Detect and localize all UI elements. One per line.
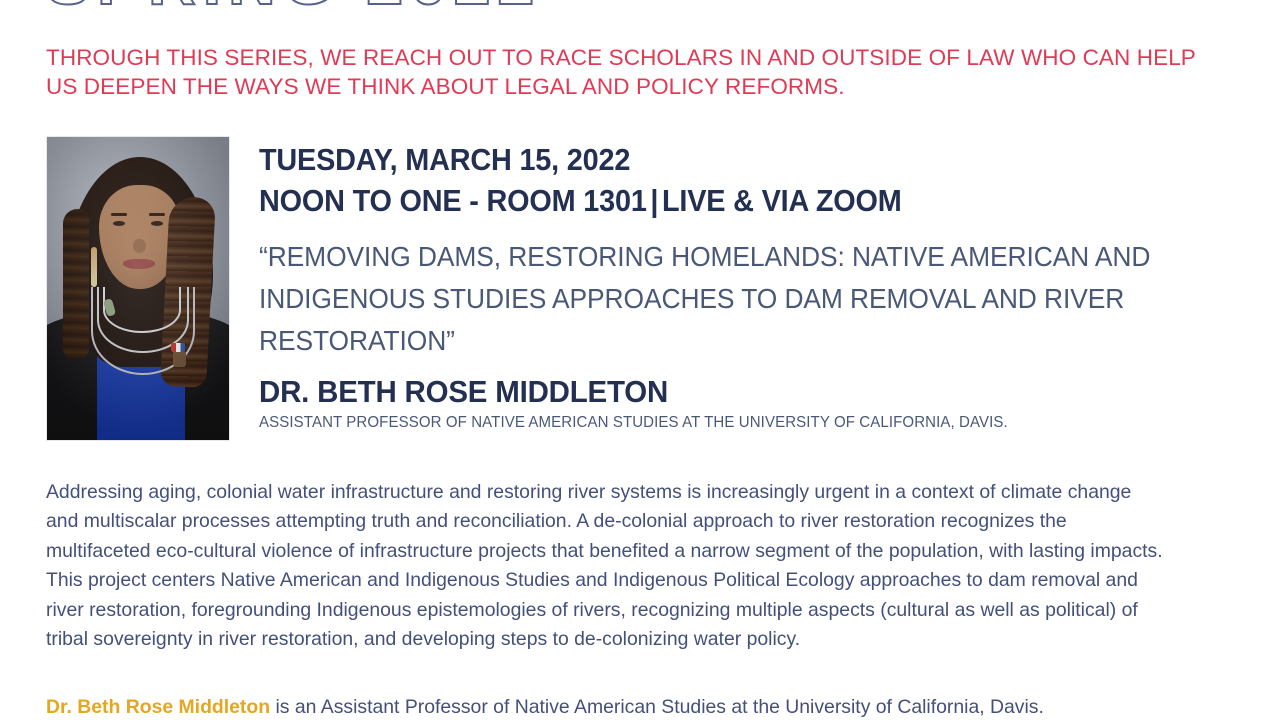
event-flyer: SPRING 2022 THROUGH THIS SERIES, WE REAC… (0, 0, 1280, 720)
season-headline-clipped: SPRING 2022 (46, 0, 541, 24)
event-details-column: TUESDAY, MARCH 15, 2022 NOON TO ONE - RO… (230, 136, 1236, 432)
series-intro-text: THROUGH THIS SERIES, WE REACH OUT TO RAC… (46, 44, 1221, 101)
event-time-location: NOON TO ONE - ROOM 1301 (259, 183, 647, 218)
speaker-photo-column (46, 136, 230, 441)
speaker-affiliation: ASSISTANT PROFESSOR OF NATIVE AMERICAN S… (259, 414, 1207, 432)
speaker-bio-name: Dr. Beth Rose Middleton (46, 696, 270, 718)
event-datetime: TUESDAY, MARCH 15, 2022 NOON TO ONE - RO… (259, 140, 1168, 221)
speaker-bio-line: Dr. Beth Rose Middleton is an Assistant … (46, 693, 1226, 720)
event-format: LIVE & VIA ZOOM (662, 183, 902, 218)
event-time-location-line: NOON TO ONE - ROOM 1301|LIVE & VIA ZOOM (259, 181, 1168, 222)
photo-vignette (47, 137, 229, 440)
talk-abstract: Addressing aging, colonial water infrast… (46, 478, 1168, 655)
event-separator: | (647, 183, 662, 218)
speaker-bio-text: is an Assistant Professor of Native Amer… (270, 696, 1044, 718)
speaker-name: DR. BETH ROSE MIDDLETON (259, 374, 1187, 410)
season-headline: SPRING 2022 (46, 0, 541, 18)
event-main-block: TUESDAY, MARCH 15, 2022 NOON TO ONE - RO… (46, 136, 1236, 441)
speaker-portrait-photo (46, 136, 230, 441)
talk-title: “REMOVING DAMS, RESTORING HOMELANDS: NAT… (259, 236, 1197, 362)
event-date: TUESDAY, MARCH 15, 2022 (259, 142, 630, 177)
